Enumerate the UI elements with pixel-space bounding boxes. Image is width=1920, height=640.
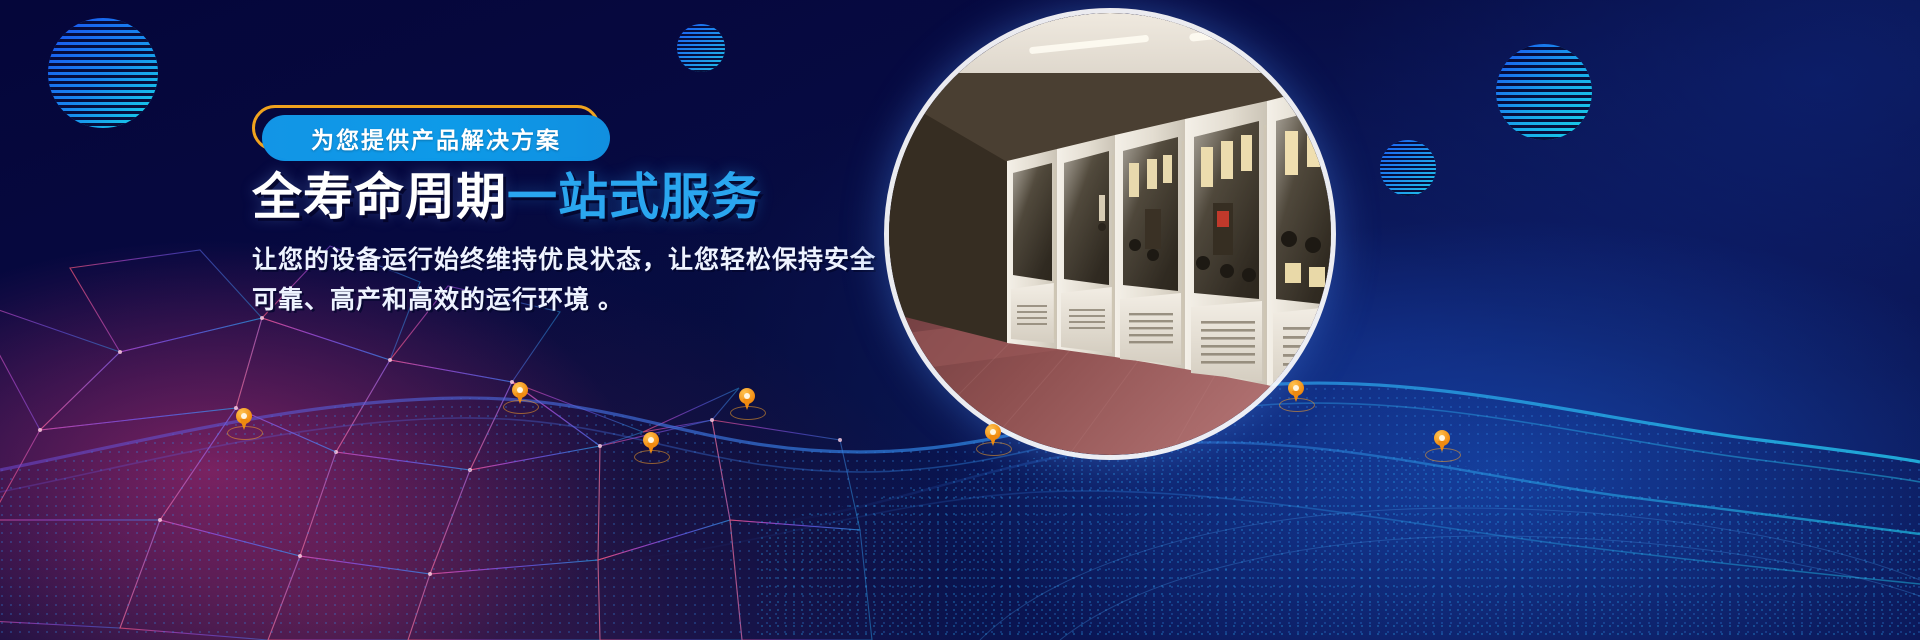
map-pin-1	[236, 408, 252, 432]
promo-badge-label: 为您提供产品解决方案	[311, 121, 561, 155]
decor-circle-small-top	[677, 24, 725, 72]
page-title: 全寿命周期一站式服务	[252, 170, 762, 225]
switchgear-illustration	[889, 13, 1331, 455]
page-title-accent: 一站式服务	[507, 169, 762, 225]
pin-tip	[240, 419, 248, 430]
map-pin-5	[985, 424, 1001, 448]
pin-tip	[1292, 391, 1300, 402]
page-subtitle-line-1: 让您的设备运行始终维持优良状态，让您轻松保持安全	[252, 240, 872, 280]
pin-tip	[516, 393, 524, 404]
pin-dot	[1439, 435, 1445, 441]
promo-badge-fill[interactable]: 为您提供产品解决方案	[262, 115, 610, 161]
map-pin-7	[1434, 430, 1450, 454]
pin-dot	[744, 393, 750, 399]
page-subtitle-line-2: 可靠、高产和高效的运行环境 。	[252, 280, 872, 320]
decor-circle-right-small	[1380, 140, 1436, 196]
map-pin-2	[512, 382, 528, 406]
pin-dot	[241, 413, 247, 419]
decor-circle-top-left	[48, 18, 158, 128]
pin-dot	[517, 387, 523, 393]
map-pin-6	[1288, 380, 1304, 404]
pin-dot	[648, 437, 654, 443]
pin-tip	[1438, 441, 1446, 452]
map-pin-3	[643, 432, 659, 456]
decor-circle-right-large	[1496, 44, 1592, 140]
hero-photo	[889, 13, 1331, 455]
hero-banner: 为您提供产品解决方案 全寿命周期一站式服务 让您的设备运行始终维持优良状态，让您…	[0, 0, 1920, 640]
map-pin-4	[739, 388, 755, 412]
hero-photo-circle	[884, 8, 1336, 460]
pin-dot	[1293, 385, 1299, 391]
pin-tip	[989, 435, 997, 446]
page-title-primary: 全寿命周期	[252, 169, 507, 225]
pin-dot	[990, 429, 996, 435]
page-subtitle: 让您的设备运行始终维持优良状态，让您轻松保持安全 可靠、高产和高效的运行环境 。	[252, 240, 872, 320]
pin-tip	[743, 399, 751, 410]
pin-tip	[647, 443, 655, 454]
